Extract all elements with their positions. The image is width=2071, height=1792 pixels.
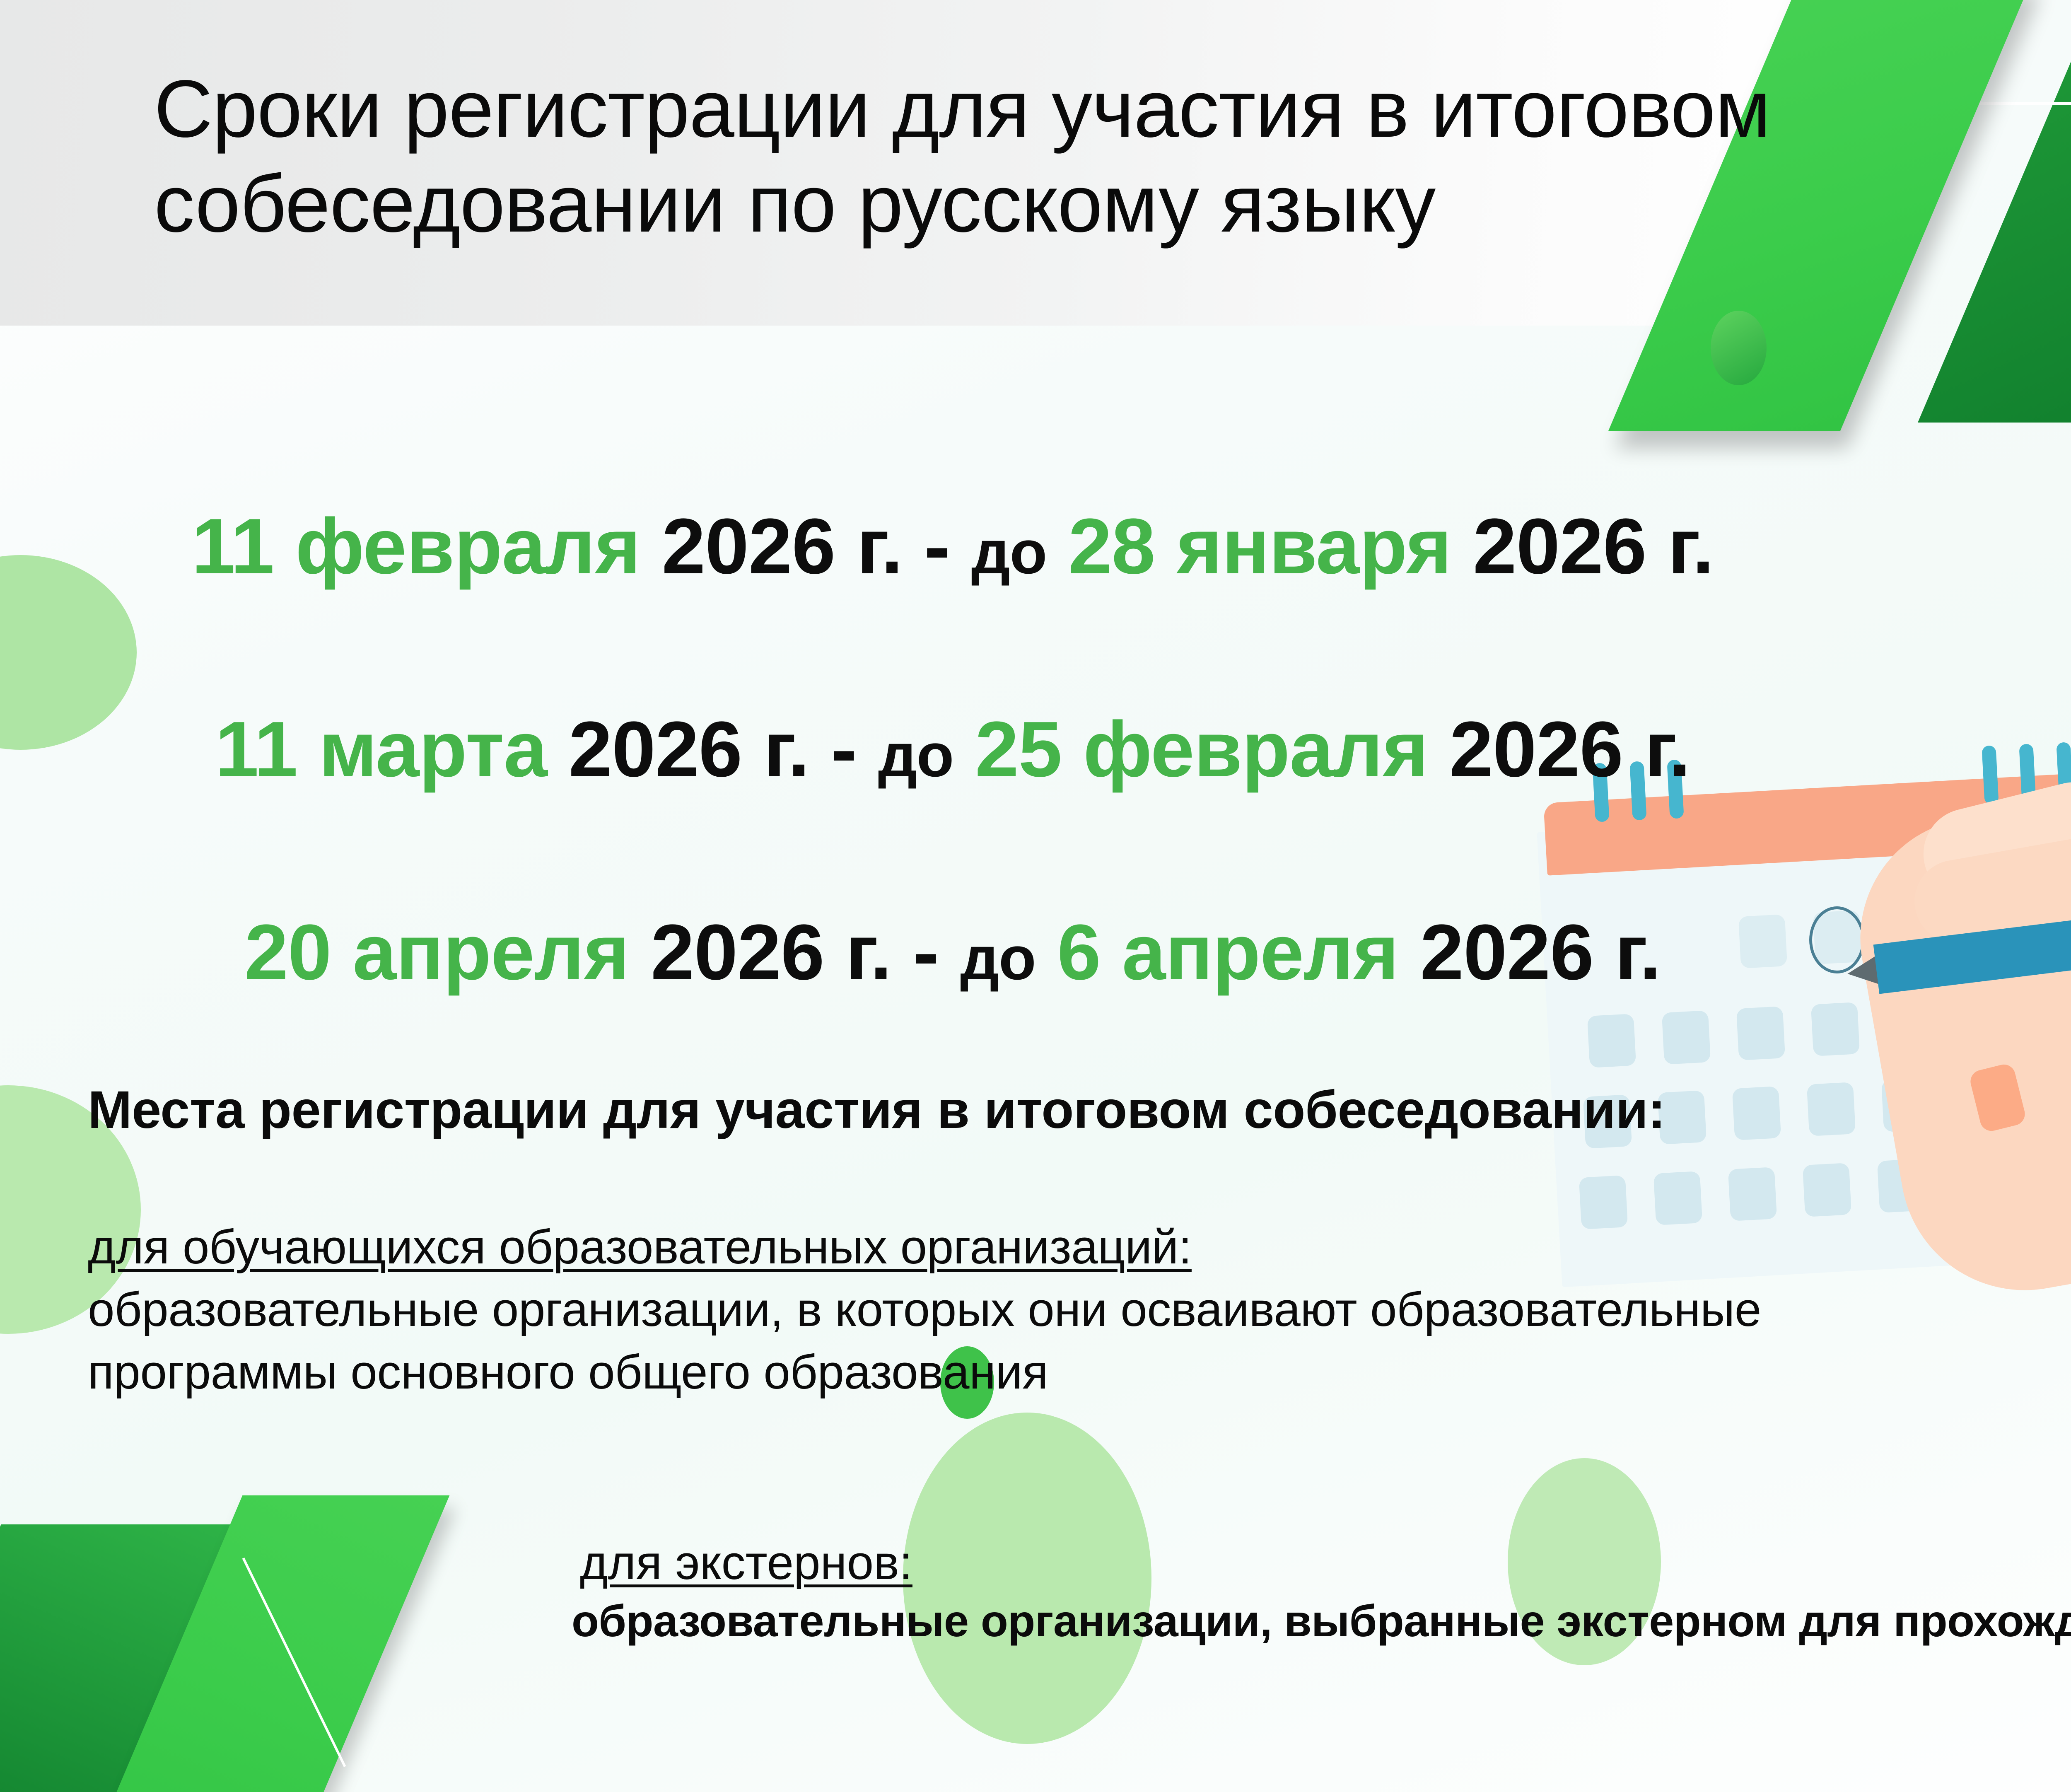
exam-date: 11 марта	[215, 705, 547, 793]
exam-year: 2026 г.	[547, 705, 809, 793]
students-block: для обучающихся образовательных организа…	[88, 1216, 1935, 1403]
calendar-cell	[1807, 1082, 1856, 1136]
places-heading: Места регистрации для участия в итоговом…	[88, 1080, 1665, 1140]
externs-label: для экстернов:	[580, 1535, 912, 1590]
deadline-year: 2026 г.	[1399, 908, 1661, 996]
exam-date: 20 апреля	[244, 908, 629, 996]
date-row: 20 апреля 2026 г. - до 6 апреля 2026 г.	[0, 853, 1947, 1056]
decor-circle-bottom-1	[903, 1413, 1151, 1744]
slide-canvas: Сроки регистрации для участия в итоговом…	[0, 0, 2071, 1792]
students-text: образовательные организации, в которых о…	[88, 1282, 1761, 1399]
date-separator: -	[903, 502, 971, 590]
until-label: до	[878, 721, 953, 790]
date-separator: -	[809, 705, 878, 793]
calendar-cell	[1803, 1163, 1851, 1217]
until-label: до	[971, 518, 1047, 587]
calendar-cell	[1732, 1086, 1781, 1140]
deadline-date: 6 апреля	[1036, 908, 1399, 996]
exam-year: 2026 г.	[629, 908, 891, 996]
page-title: Сроки регистрации для участия в итоговом…	[154, 61, 1885, 251]
calendar-cell	[1728, 1167, 1777, 1221]
date-row: 11 марта 2026 г. - до 25 февраля 2026 г.	[0, 650, 1947, 853]
deadline-date: 25 февраля	[953, 705, 1428, 793]
date-separator: -	[891, 908, 960, 996]
date-row: 11 февраля 2026 г. - до 28 января 2026 г…	[0, 447, 1947, 650]
deadline-date: 28 января	[1047, 502, 1451, 590]
exam-year: 2026 г.	[640, 502, 903, 590]
until-label: до	[960, 924, 1035, 993]
deadline-year: 2026 г.	[1428, 705, 1690, 793]
dates-list: 11 февраля 2026 г. - до 28 января 2026 г…	[0, 447, 1947, 1056]
deadline-year: 2026 г.	[1451, 502, 1714, 590]
externs-text: образовательные организации, выбранные э…	[572, 1595, 2071, 1647]
exam-date: 11 февраля	[192, 502, 640, 590]
decor-dot-green-top	[1711, 311, 1767, 385]
students-label: для обучающихся образовательных организа…	[88, 1220, 1192, 1274]
